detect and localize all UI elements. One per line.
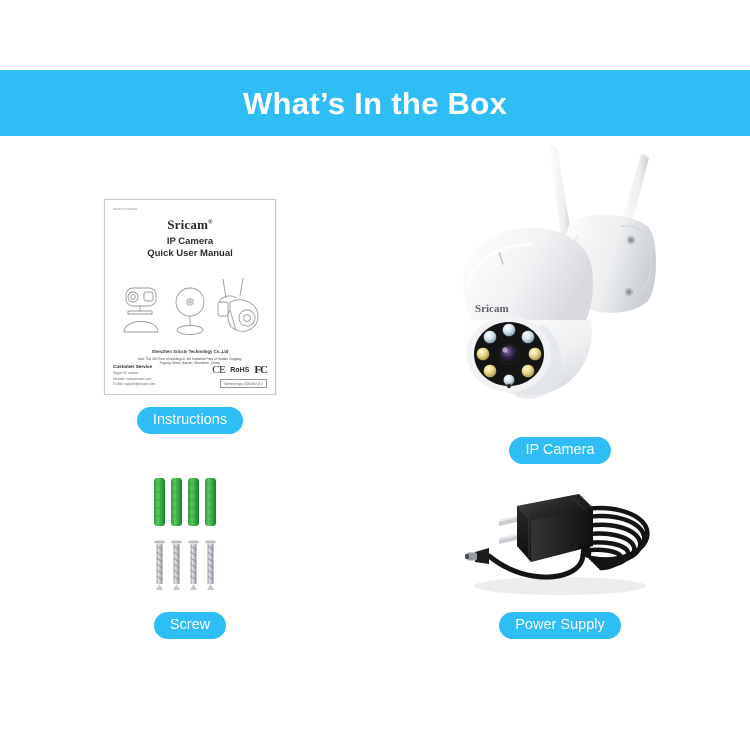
manual-footer: Customer Service Skype ID: sricam Websit… — [113, 364, 267, 388]
ptz-dome-camera-image: Sricam — [445, 140, 675, 425]
badge-screw: Screw — [154, 612, 226, 639]
manual-line1: IP Camera — [113, 236, 267, 247]
dc-barrel-connector — [465, 548, 489, 564]
ce-mark-icon: CE — [212, 364, 225, 376]
screw — [188, 540, 199, 590]
manual-brand-text: Sricam — [167, 217, 208, 232]
customer-service-title: Customer Service — [113, 364, 155, 369]
fcc-mark-icon: FC — [254, 364, 267, 376]
manual-product-illustrations — [113, 268, 267, 342]
manual-language-codes: EN/ES/IT/FR/DE — [113, 207, 267, 211]
certification-marks: CE RoHS FC SriHome App 2020/06-V2.0 — [212, 364, 267, 388]
manual-brand-mark: ® — [208, 220, 213, 226]
antenna-left-icon — [549, 146, 571, 237]
wall-anchors — [154, 478, 216, 526]
certification-row: CE RoHS FC — [212, 364, 267, 376]
item-power-supply: Power Supply — [400, 470, 720, 639]
led-warm — [484, 365, 497, 378]
item-ip-camera: Sricam — [400, 140, 720, 464]
led-warm — [529, 348, 542, 361]
item-instructions: EN/ES/IT/FR/DE Sricam® IP Camera Quick U… — [30, 195, 350, 434]
wall-anchor — [188, 478, 199, 526]
instructions-figure: EN/ES/IT/FR/DE Sricam® IP Camera Quick U… — [104, 195, 276, 395]
wall-anchor — [205, 478, 216, 526]
power-adapter-image — [455, 472, 665, 600]
screws-and-anchors-image — [140, 472, 240, 600]
customer-service-email: E-Mail: support@sricam.com — [113, 382, 155, 388]
manual-line2: Quick User Manual — [113, 248, 267, 259]
camera-brand-label: Sricam — [475, 303, 509, 315]
customer-service-block: Customer Service Skype ID: sricam Websit… — [113, 364, 155, 388]
user-manual-booklet: EN/ES/IT/FR/DE Sricam® IP Camera Quick U… — [104, 199, 276, 395]
power-supply-figure — [455, 470, 665, 600]
led-white — [504, 375, 515, 386]
led-warm — [477, 348, 490, 361]
led-white — [522, 331, 535, 344]
screw-figure — [140, 470, 240, 600]
bullet-camera-icon — [118, 280, 164, 342]
light-sensor-icon — [507, 384, 511, 388]
led-warm — [522, 365, 535, 378]
box-contents-grid: EN/ES/IT/FR/DE Sricam® IP Camera Quick U… — [0, 140, 750, 660]
badge-instructions: Instructions — [137, 407, 243, 434]
led-white — [503, 324, 516, 337]
item-screw: Screw — [30, 470, 350, 639]
screw — [205, 540, 216, 590]
app-version-label: SriHome App 2020/06-V2.0 — [220, 379, 267, 388]
page-title: What’s In the Box — [243, 88, 507, 119]
badge-ip-camera: IP Camera — [509, 437, 610, 464]
plug-prongs-icon — [499, 516, 517, 544]
header-banner: What’s In the Box — [0, 70, 750, 136]
lens-faceplate — [467, 316, 551, 392]
wall-anchor — [154, 478, 165, 526]
wall-anchor — [171, 478, 182, 526]
manual-brand: Sricam® — [113, 217, 267, 233]
led-white — [484, 331, 497, 344]
ptz-camera-icon — [216, 276, 262, 342]
screw — [171, 540, 182, 590]
badge-power-supply: Power Supply — [499, 612, 620, 639]
ip-camera-figure: Sricam — [445, 140, 675, 425]
indoor-dome-camera-icon — [167, 280, 213, 342]
rohs-mark-icon: RoHS — [230, 367, 249, 374]
screw — [154, 540, 165, 590]
screws — [154, 540, 216, 590]
manual-company-name: Shenzhen Sricctv Technology Co.,Ltd — [113, 349, 267, 354]
